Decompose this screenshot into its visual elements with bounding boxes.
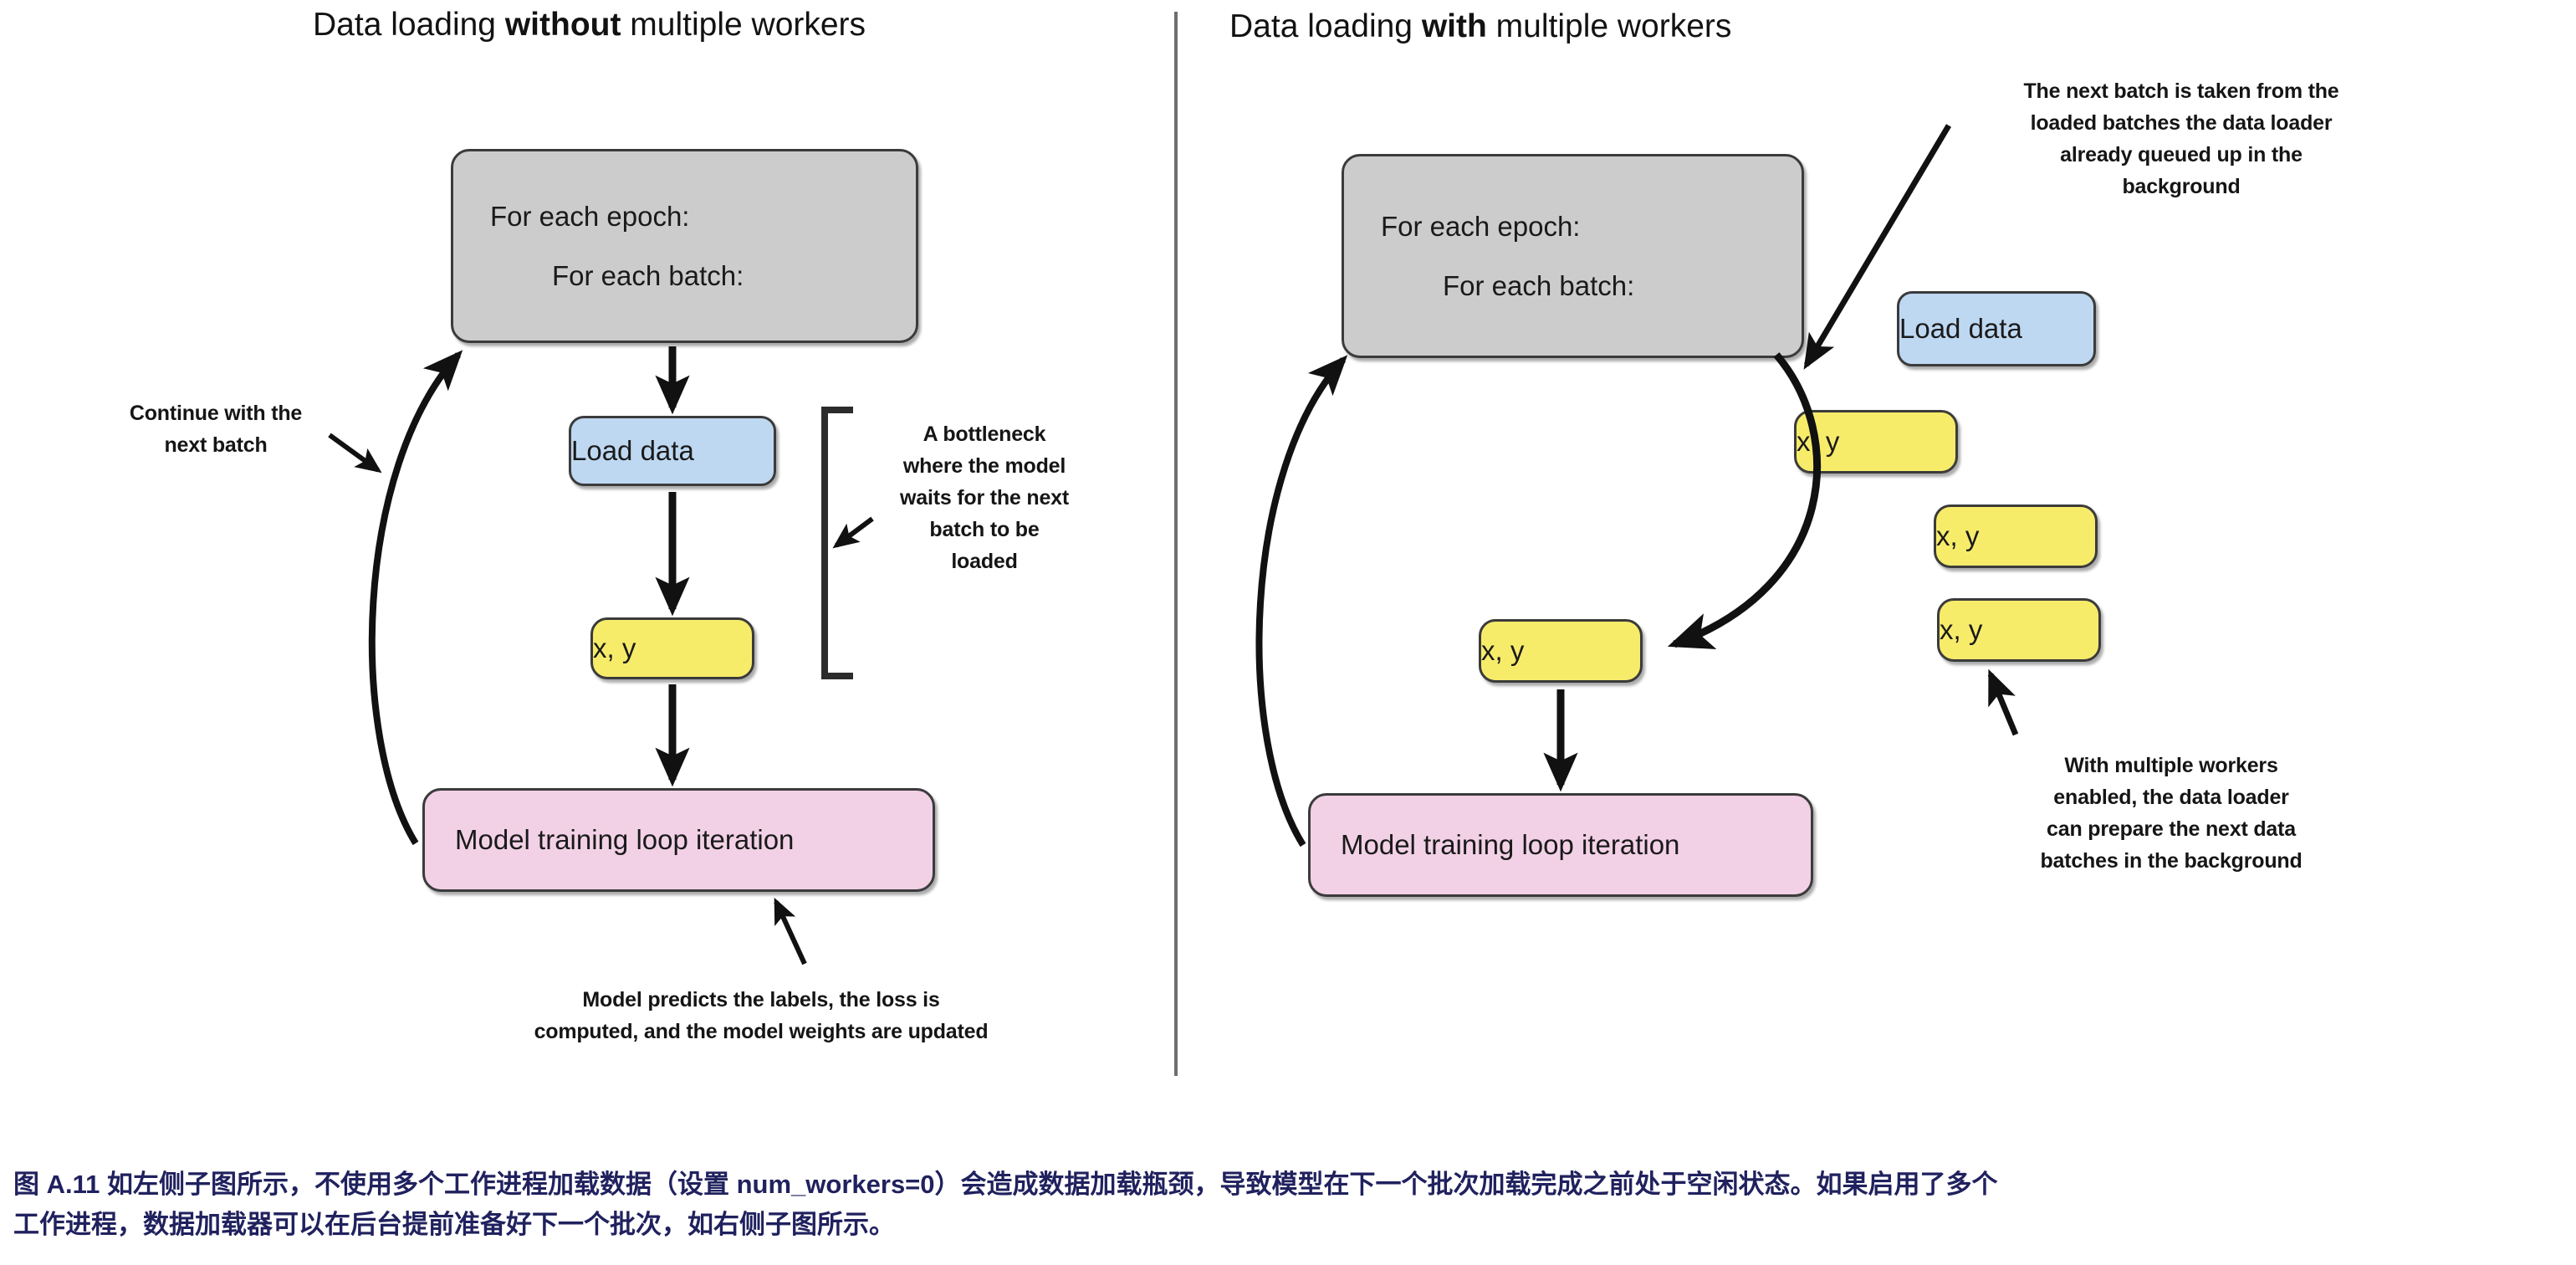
right-loop-batch-label: For each batch: — [1443, 270, 1634, 302]
panel-divider — [1174, 12, 1178, 1076]
left-load-data-label: Load data — [571, 435, 774, 467]
right-current-batch-label: x, y — [1481, 635, 1640, 667]
caption-line-1: 图 A.11 如左侧子图所示，不使用多个工作进程加载数据（设置 num_work… — [13, 1165, 2564, 1205]
arrow-right-loop-to-batch-curve — [1674, 355, 1817, 644]
right-queued-batch-2: x, y — [1934, 504, 2098, 568]
right-queued-batch-1-label: x, y — [1797, 426, 1955, 458]
figure-canvas: Data loading without multiple workers Da… — [0, 0, 2576, 1113]
right-queued-batch-3: x, y — [1937, 598, 2101, 662]
left-training-box: Model training loop iteration — [422, 788, 935, 892]
left-training-label: Model training loop iteration — [425, 824, 794, 856]
right-queued-batch-1: x, y — [1794, 410, 1958, 474]
right-load-data-box: Load data — [1897, 291, 2096, 366]
left-title-suffix: multiple workers — [621, 7, 866, 43]
right-training-label: Model training loop iteration — [1311, 829, 1679, 861]
right-title-emphasis: with — [1422, 8, 1487, 44]
left-model-note: Model predicts the labels, the loss is c… — [427, 984, 1096, 1047]
right-workers-note: With multiple workers enabled, the data … — [1942, 750, 2400, 877]
right-training-box: Model training loop iteration — [1308, 793, 1813, 897]
right-title-suffix: multiple workers — [1487, 8, 1732, 44]
left-continue-note: Continue with the next batch — [90, 397, 341, 461]
right-loop-epoch-label: For each epoch: — [1381, 211, 1580, 243]
arrow-left-loopback-curve — [372, 355, 458, 843]
pointer-left-model-note — [776, 902, 805, 964]
left-title-prefix: Data loading — [313, 7, 505, 43]
left-bottleneck-bracket — [825, 410, 853, 676]
right-next-batch-note: The next batch is taken from the loaded … — [1932, 75, 2430, 202]
right-queued-batch-2-label: x, y — [1936, 520, 2095, 552]
right-queued-batch-3-label: x, y — [1940, 614, 2098, 646]
left-load-data-box: Load data — [569, 416, 776, 486]
left-loop-epoch-label: For each epoch: — [490, 201, 689, 233]
right-loop-header-box: For each epoch: For each batch: — [1342, 154, 1804, 358]
left-panel-title: Data loading without multiple workers — [313, 7, 866, 44]
arrow-right-loopback-curve — [1260, 360, 1343, 845]
pointer-left-bottleneck-note — [836, 519, 872, 545]
left-batch-label: x, y — [593, 632, 752, 664]
caption-line-2: 工作进程，数据加载器可以在后台提前准备好下一个批次，如右侧子图所示。 — [13, 1205, 2564, 1245]
pointer-right-workers-note — [1991, 674, 2016, 735]
left-loop-batch-label: For each batch: — [552, 260, 744, 292]
right-load-data-label: Load data — [1899, 313, 2093, 345]
left-bottleneck-note: A bottleneck where the model waits for t… — [880, 418, 1089, 577]
right-title-prefix: Data loading — [1229, 8, 1422, 44]
left-title-emphasis: without — [505, 7, 621, 43]
right-current-batch-box: x, y — [1479, 619, 1643, 683]
left-loop-header-box: For each epoch: For each batch: — [451, 149, 918, 343]
left-batch-box: x, y — [590, 617, 754, 679]
right-panel-title: Data loading with multiple workers — [1229, 8, 1731, 45]
figure-caption: 图 A.11 如左侧子图所示，不使用多个工作进程加载数据（设置 num_work… — [13, 1165, 2564, 1245]
